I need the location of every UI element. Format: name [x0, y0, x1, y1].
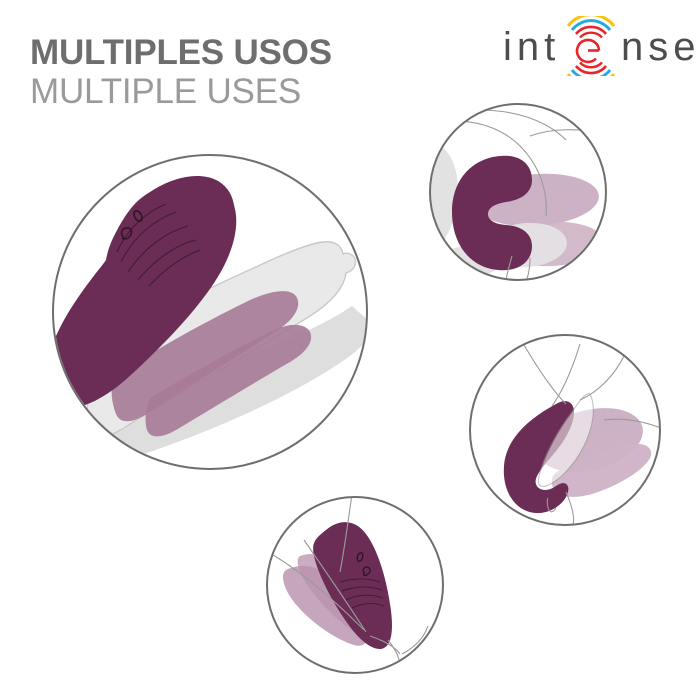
illustration-usage-middle-right — [470, 335, 661, 528]
main-device-head — [105, 176, 234, 304]
product-info-panel: MULTIPLES USOS MULTIPLE USES int — [0, 0, 700, 700]
illustration-stage — [0, 0, 700, 700]
illustration-main-usage — [46, 155, 370, 469]
illustration-usage-top-right — [424, 104, 606, 300]
illustration-usage-bottom — [267, 494, 443, 673]
